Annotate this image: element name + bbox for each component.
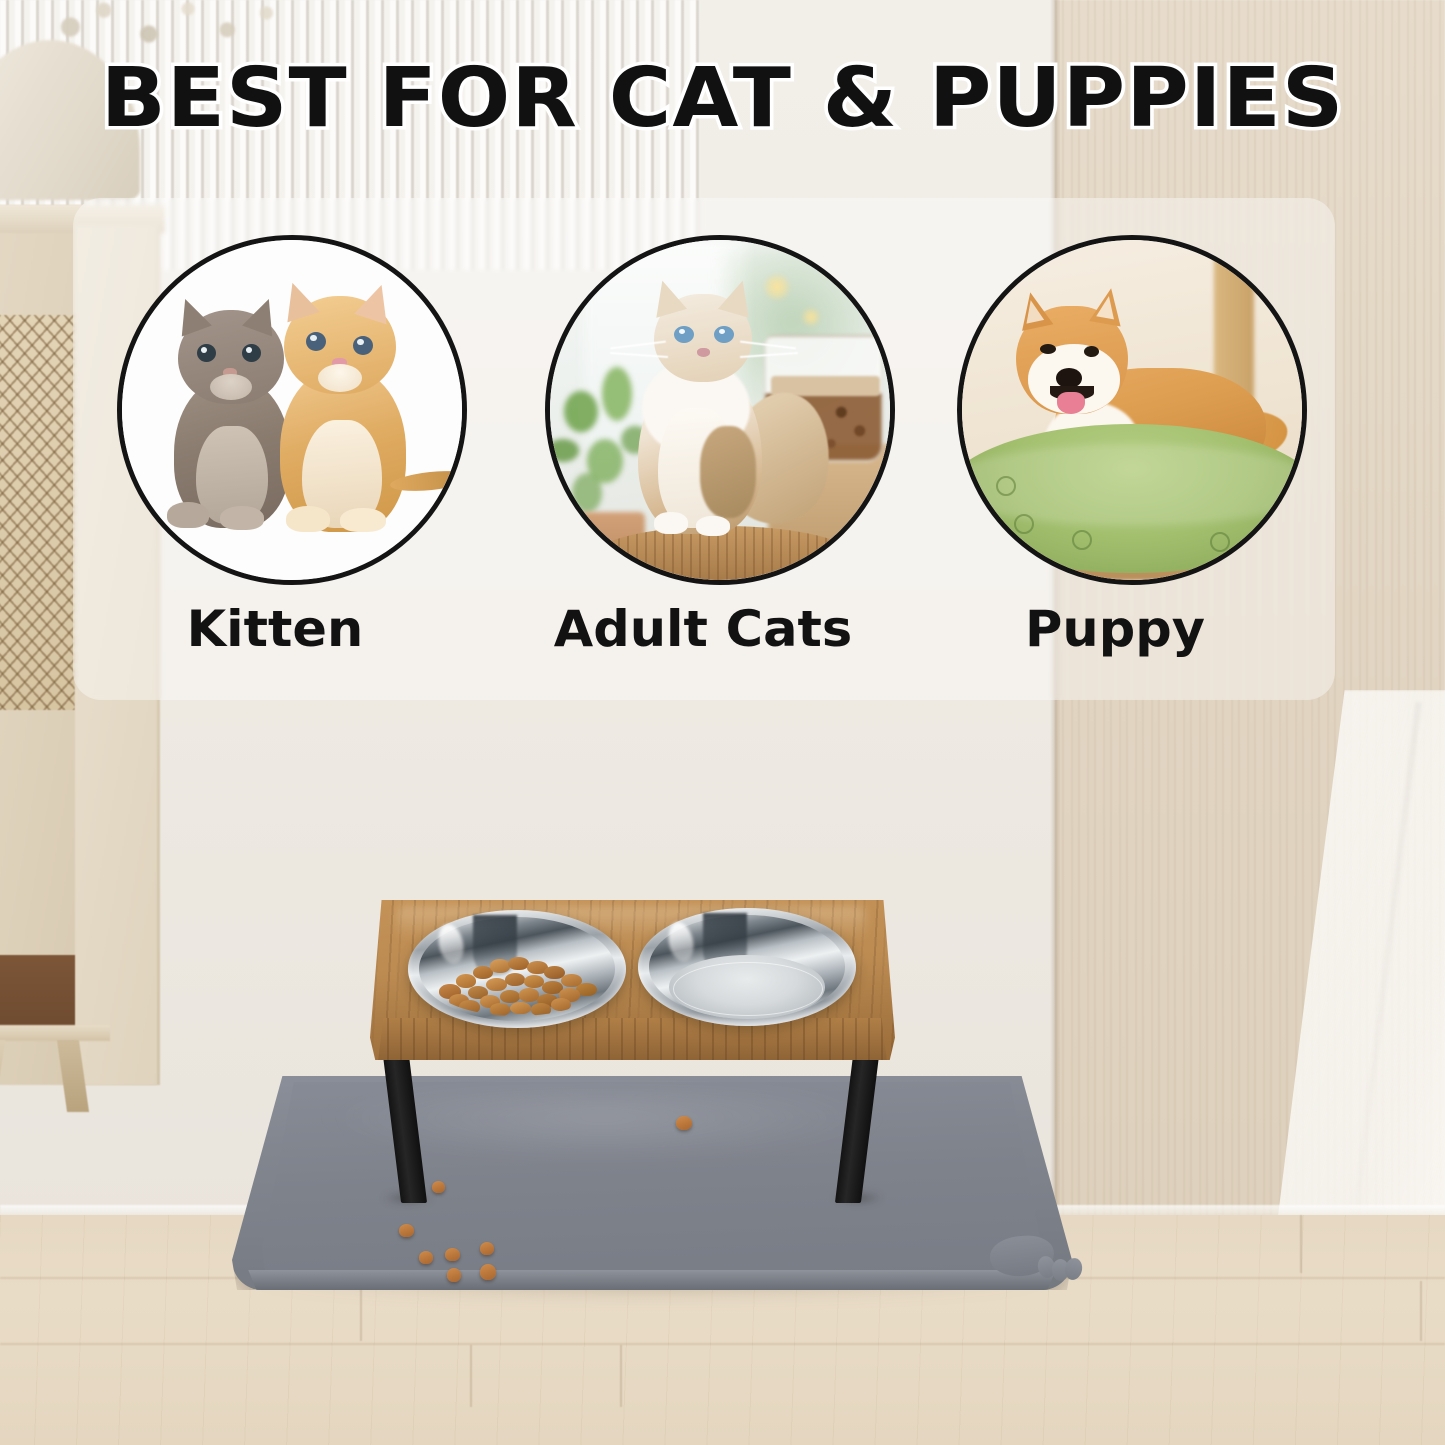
cabinet-lower-shelf xyxy=(0,1025,110,1041)
loose-kibble xyxy=(445,1248,460,1261)
kitten-photo-circle xyxy=(117,235,467,585)
category-label-kitten: Kitten xyxy=(91,600,458,658)
category-adult-cats[interactable]: Adult Cats xyxy=(523,225,883,585)
stand-leg-right xyxy=(835,1055,879,1203)
rattan-cane-panel xyxy=(0,315,75,710)
elevated-feeder-stand xyxy=(370,900,895,1200)
category-label-adult-cats: Adult Cats xyxy=(519,600,886,658)
loose-kibble xyxy=(480,1242,494,1255)
category-row: Kitten xyxy=(73,225,1335,590)
cabinet-drawer xyxy=(0,955,75,1035)
category-kitten[interactable]: Kitten xyxy=(95,225,455,585)
loose-kibble xyxy=(399,1224,414,1237)
puppy-photo-circle xyxy=(957,235,1307,585)
food-bowl xyxy=(408,910,626,1028)
kibble-in-bowl xyxy=(432,950,602,1016)
category-label-puppy: Puppy xyxy=(931,600,1298,658)
stand-leg-left xyxy=(383,1055,427,1203)
page-title: BEST FOR CAT & PUPPIES xyxy=(0,56,1445,142)
board-front-face xyxy=(374,1018,891,1060)
adult-cat-photo-circle xyxy=(545,235,895,585)
water-bowl xyxy=(638,908,856,1026)
paw-print-tab xyxy=(988,1228,1074,1284)
loose-kibble xyxy=(480,1264,496,1280)
loose-kibble xyxy=(447,1268,461,1282)
product-marketing-image: BEST FOR CAT & PUPPIES xyxy=(0,0,1445,1445)
loose-kibble xyxy=(419,1251,433,1264)
category-puppy[interactable]: Puppy xyxy=(935,225,1295,585)
